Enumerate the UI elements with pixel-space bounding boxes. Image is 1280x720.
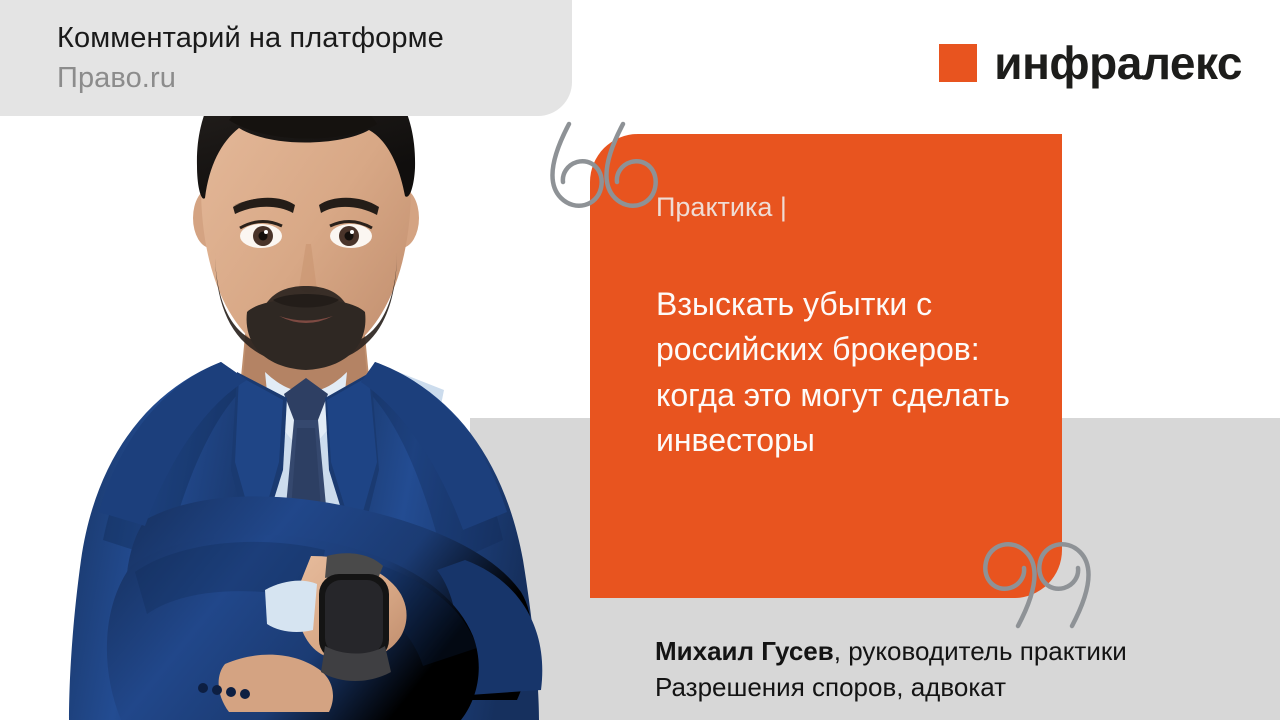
practice-label: Практика |	[656, 192, 787, 223]
opening-quote-icon	[545, 112, 675, 217]
brand-logo: инфралекс	[939, 40, 1242, 86]
headline-text: Взыскать убытки с российских брокеров: к…	[656, 282, 1034, 464]
header-label-box: Комментарий на платформе Право.ru	[0, 0, 572, 116]
orange-square-icon	[939, 44, 977, 82]
header-title-line2: Право.ru	[57, 62, 176, 95]
poster-canvas: Комментарий на платформе Право.ru инфрал…	[0, 0, 1280, 720]
speaker-name: Михаил Гусев	[655, 636, 834, 666]
header-title-line1: Комментарий на платформе	[57, 22, 444, 55]
closing-quote-icon	[968, 533, 1098, 638]
background-white-block	[0, 418, 470, 720]
brand-name: инфралекс	[994, 40, 1242, 86]
attribution: Михаил Гусев, руководитель практики Разр…	[655, 634, 1255, 706]
